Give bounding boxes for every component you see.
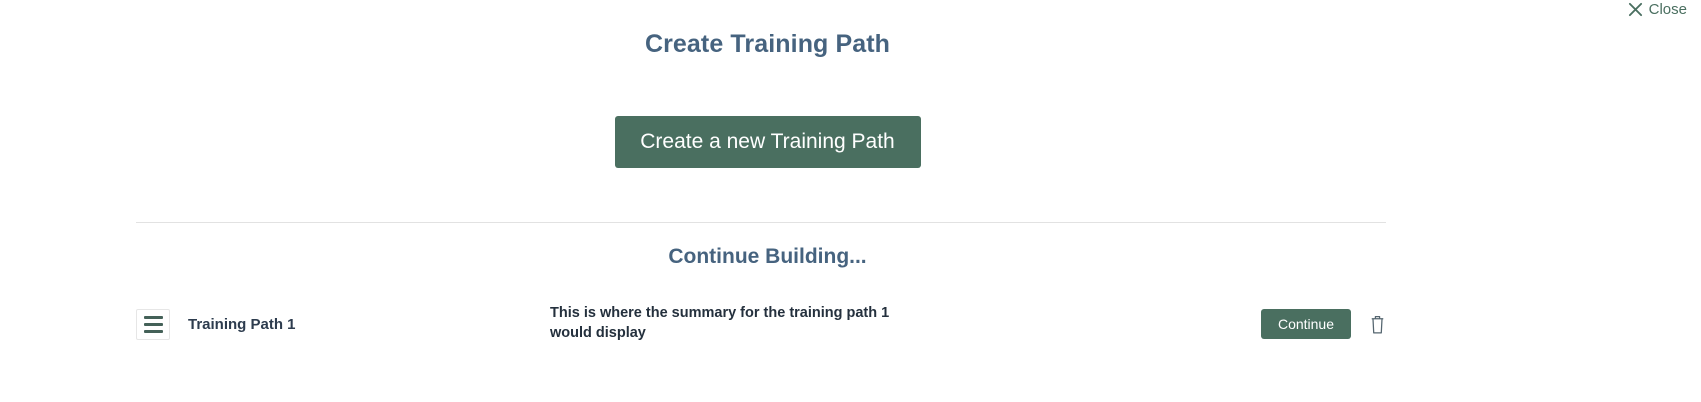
close-button[interactable]: Close: [1628, 2, 1687, 17]
close-x-icon: [1628, 2, 1643, 17]
close-button-label: Close: [1649, 2, 1687, 17]
primary-action-container: Create a new Training Path: [0, 116, 1535, 168]
continue-building-heading: Continue Building...: [0, 245, 1535, 269]
training-path-summary: This is where the summary for the traini…: [550, 304, 895, 343]
row-identity: Training Path 1: [136, 309, 536, 340]
trash-icon[interactable]: [1369, 314, 1386, 335]
hamburger-drag-icon[interactable]: [136, 309, 170, 340]
table-row: Training Path 1 This is where the summar…: [136, 296, 1386, 352]
training-path-name: Training Path 1: [188, 316, 296, 333]
section-divider: [136, 222, 1386, 223]
continue-button[interactable]: Continue: [1261, 309, 1351, 339]
hamburger-bar: [144, 330, 163, 333]
create-new-training-path-button[interactable]: Create a new Training Path: [615, 116, 921, 168]
row-actions: Continue: [1261, 309, 1386, 339]
page-title: Create Training Path: [0, 30, 1535, 59]
create-training-path-modal: Close Create Training Path Create a new …: [0, 0, 1701, 402]
hamburger-bar: [144, 316, 163, 319]
hamburger-bar: [144, 323, 163, 326]
